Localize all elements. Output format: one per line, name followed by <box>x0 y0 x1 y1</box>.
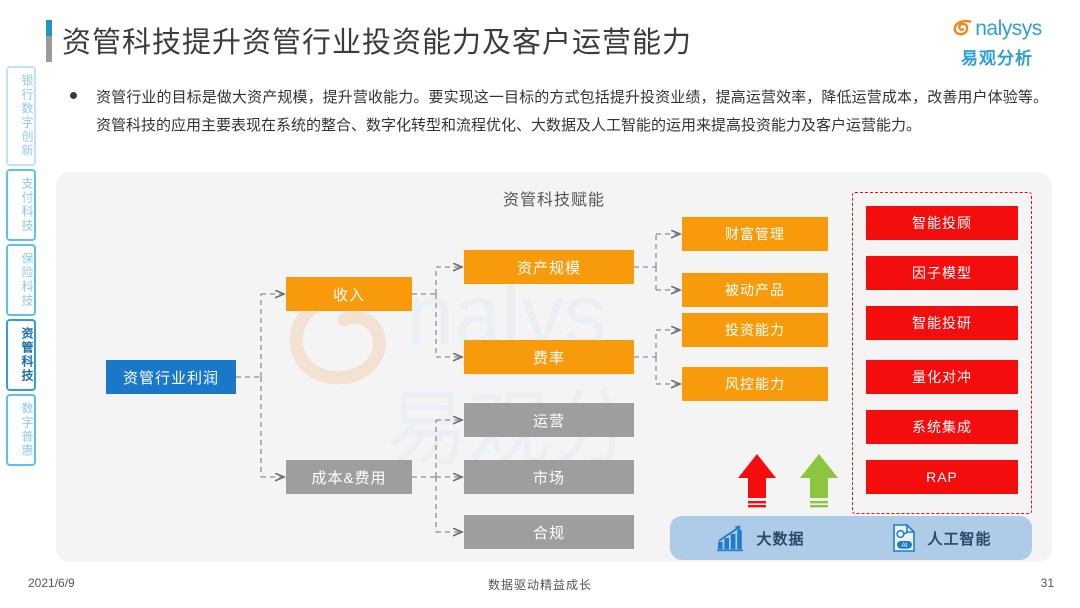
green-up-arrow-icon <box>798 452 840 512</box>
sidebar-item-inclusive-finance[interactable]: 数字普惠 <box>6 394 36 466</box>
logo-wordmark: nalysys <box>975 18 1042 39</box>
svg-text:AI: AI <box>902 542 908 549</box>
diagram-canvas: 资管科技赋能 nalys 易观分 <box>56 172 1052 562</box>
page-title: 资管科技提升资管行业投资能力及客户运营能力 <box>62 19 692 61</box>
red-up-arrow-icon <box>736 452 778 512</box>
footer-page-number: 31 <box>1041 576 1054 590</box>
node-asset-scale[interactable]: 资产规模 <box>464 250 634 284</box>
bar-chart-icon <box>716 524 746 552</box>
node-fee-rate[interactable]: 费率 <box>464 340 634 374</box>
sidebar: 银行数字创新 支付科技 保险科技 资管科技 数字普惠 <box>6 66 40 469</box>
node-risk-control-capability[interactable]: 风控能力 <box>682 367 828 401</box>
analysys-logo: nalysys 易观分析 <box>938 14 1056 66</box>
foundation-bar: 大数据 AI 人工智能 <box>670 516 1032 560</box>
bullet-point-icon <box>70 92 77 99</box>
node-revenue[interactable]: 收入 <box>286 277 412 311</box>
ai-document-icon: AI <box>891 523 917 553</box>
node-factor-model[interactable]: 因子模型 <box>866 256 1018 290</box>
node-asset-mgmt-profit[interactable]: 资管行业利润 <box>106 360 236 394</box>
sidebar-item-bank[interactable]: 银行数字创新 <box>6 66 36 166</box>
sidebar-item-asset-management[interactable]: 资管科技 <box>6 319 36 391</box>
node-cost-expense[interactable]: 成本&费用 <box>286 460 412 494</box>
foundation-item-ai[interactable]: AI 人工智能 <box>851 523 1032 553</box>
node-smart-research[interactable]: 智能投研 <box>866 306 1018 340</box>
title-accent-bar <box>46 20 52 62</box>
sidebar-item-insurance[interactable]: 保险科技 <box>6 244 36 316</box>
node-passive-products[interactable]: 被动产品 <box>682 273 828 307</box>
node-wealth-management[interactable]: 财富管理 <box>682 217 828 251</box>
node-quant-hedging[interactable]: 量化对冲 <box>866 360 1018 394</box>
node-market[interactable]: 市场 <box>464 460 634 494</box>
node-operations[interactable]: 运营 <box>464 403 634 437</box>
foundation-label-ai: 人工智能 <box>927 528 991 549</box>
node-compliance[interactable]: 合规 <box>464 515 634 549</box>
footer-slogan: 数据驱动精益成长 <box>0 576 1080 593</box>
node-rap[interactable]: RAP <box>866 460 1018 494</box>
slide-page: 资管科技提升资管行业投资能力及客户运营能力 nalysys 易观分析 银行数字创… <box>0 0 1080 608</box>
foundation-label-bigdata: 大数据 <box>756 528 804 549</box>
sidebar-item-payment[interactable]: 支付科技 <box>6 169 36 241</box>
node-investment-capability[interactable]: 投资能力 <box>682 313 828 347</box>
analysys-a-mark-icon <box>952 17 974 39</box>
node-system-integration[interactable]: 系统集成 <box>866 410 1018 444</box>
node-robo-advisor[interactable]: 智能投顾 <box>866 206 1018 240</box>
foundation-item-bigdata[interactable]: 大数据 <box>670 524 851 552</box>
footer: 2021/6/9 数据驱动精益成长 31 <box>0 566 1080 608</box>
body-paragraph: 资管行业的目标是做大资产规模，提升营收能力。要实现这一目标的方式包括提升投资业绩… <box>96 84 1048 140</box>
logo-chinese-name: 易观分析 <box>938 44 1056 69</box>
